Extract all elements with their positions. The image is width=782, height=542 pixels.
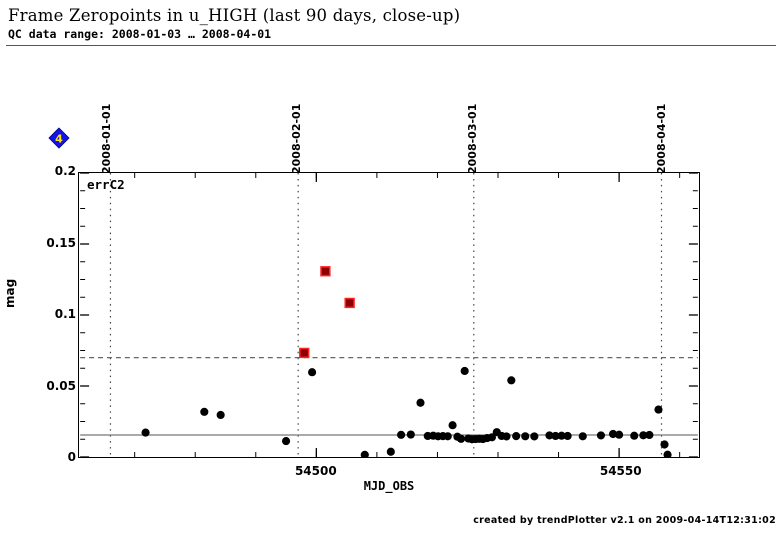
page-title: Frame Zeropoints in u_HIGH (last 90 days… xyxy=(8,6,460,25)
y-axis-title: mag xyxy=(3,279,17,308)
data-point-nominal xyxy=(457,435,465,443)
data-point-nominal xyxy=(407,430,415,438)
date-tick-label: 2008-03-01 xyxy=(466,104,479,174)
date-tick-label: 2008-02-01 xyxy=(290,104,303,174)
qc-score-diamond-icon[interactable]: 4 xyxy=(48,127,70,149)
data-point-nominal xyxy=(564,432,572,440)
page-subtitle: QC data range: 2008-01-03 … 2008-04-01 xyxy=(8,27,271,41)
series-annotation-label: errC2 xyxy=(87,177,125,192)
y-tick-label: 0.2 xyxy=(55,164,76,178)
data-point-nominal xyxy=(579,432,587,440)
x-axis-title: MJD_OBS xyxy=(364,479,415,493)
data-point-nominal xyxy=(449,421,457,429)
plot-page: Frame Zeropoints in u_HIGH (last 90 days… xyxy=(0,0,782,542)
data-point-nominal xyxy=(282,437,290,445)
diamond-icon: 4 xyxy=(48,127,70,149)
data-point-outlier xyxy=(321,267,330,276)
data-point-nominal xyxy=(630,432,638,440)
footer-credit: created by trendPlotter v2.1 on 2009-04-… xyxy=(473,515,776,526)
data-point-nominal xyxy=(502,432,510,440)
header-divider xyxy=(6,45,776,46)
data-point-nominal xyxy=(597,431,605,439)
data-point-nominal xyxy=(512,432,520,440)
data-point-nominal xyxy=(645,431,653,439)
y-tick-label: 0.1 xyxy=(55,307,76,321)
svg-text:4: 4 xyxy=(55,133,63,146)
data-point-nominal xyxy=(142,429,150,437)
date-tick-label: 2008-04-01 xyxy=(655,104,668,174)
data-point-nominal xyxy=(397,431,405,439)
data-point-nominal xyxy=(361,451,369,457)
y-tick-label: 0.05 xyxy=(46,379,76,393)
data-point-nominal xyxy=(461,367,469,375)
data-point-nominal xyxy=(663,451,671,457)
data-point-outlier xyxy=(300,349,309,358)
data-point-nominal xyxy=(200,408,208,416)
data-point-nominal xyxy=(521,432,529,440)
x-tick-label: 54500 xyxy=(295,464,337,478)
y-tick-label: 0.15 xyxy=(46,236,76,250)
data-point-outlier xyxy=(345,299,354,308)
date-tick-label: 2008-01-01 xyxy=(100,104,113,174)
y-tick-label: 0 xyxy=(68,450,76,464)
data-point-nominal xyxy=(387,448,395,456)
data-point-nominal xyxy=(308,368,316,376)
scatter-plot-canvas xyxy=(79,173,699,457)
data-point-nominal xyxy=(507,376,515,384)
data-point-nominal xyxy=(530,432,538,440)
data-point-nominal xyxy=(615,431,623,439)
plot-area: errC2 xyxy=(78,172,700,458)
data-point-nominal xyxy=(217,411,225,419)
x-tick-label: 54550 xyxy=(600,464,642,478)
data-point-nominal xyxy=(444,432,452,440)
data-point-nominal xyxy=(416,399,424,407)
data-point-nominal xyxy=(654,406,662,414)
data-point-nominal xyxy=(660,440,668,448)
